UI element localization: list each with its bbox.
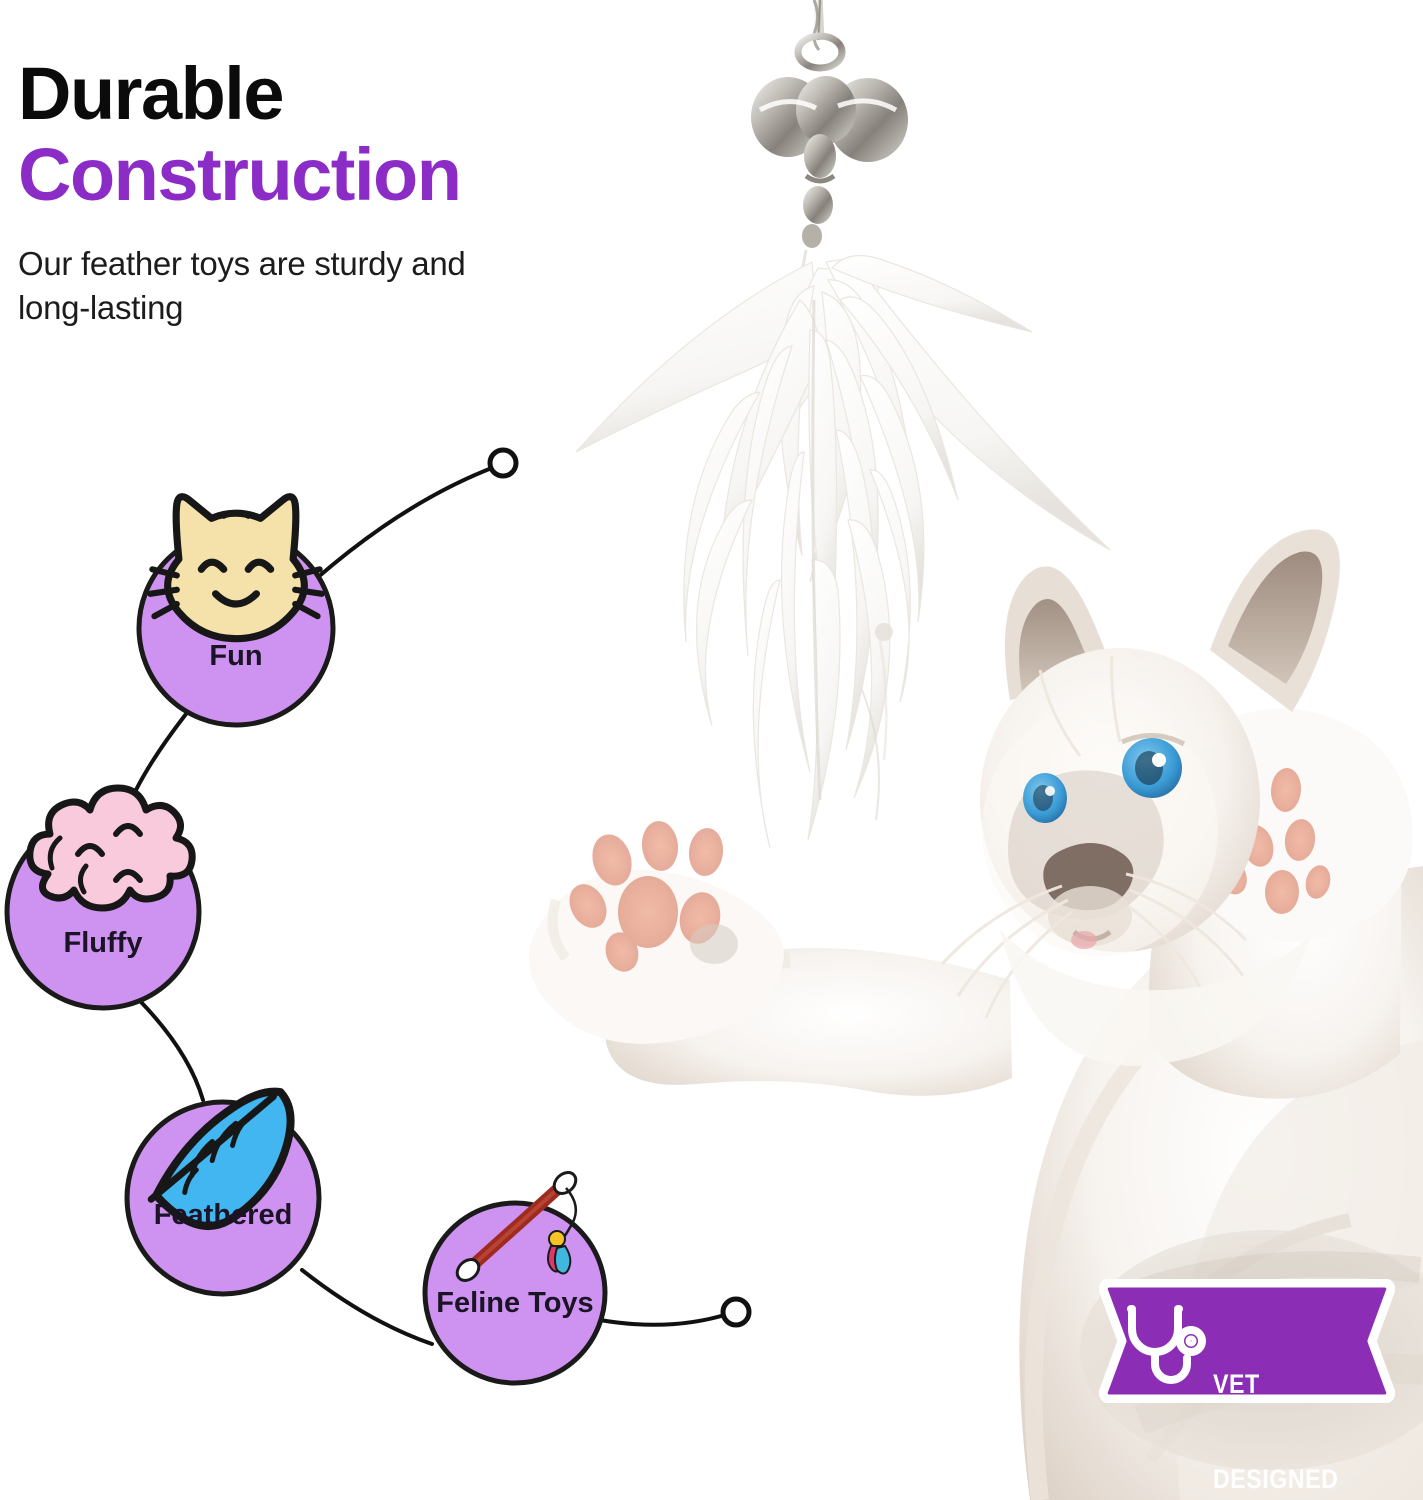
feature-bubble-diagram: Fun Fluffy [0,0,1423,1500]
badge-line-1: VET [1213,1369,1338,1401]
bottom-endpoint-ring [723,1299,749,1325]
connector-fluffy-feathered [141,1002,203,1100]
connector-feathered-feline [302,1270,432,1344]
top-endpoint-ring [490,450,516,476]
connector-endpoints [490,450,749,1325]
product-feature-image: Durable Construction Our feather toys ar… [0,0,1423,1500]
bubble-feathered[interactable]: Feathered [127,1087,319,1294]
badge-text: VET DESIGNED [1213,1305,1338,1500]
bubble-feline-toys-label: Feline Toys [436,1287,593,1319]
bubble-feline-toys[interactable]: Feline Toys [425,1168,605,1383]
cloud-puff-icon [30,788,192,908]
connector-top [317,466,497,578]
badge-line-2: DESIGNED [1213,1464,1338,1496]
connector-bottom [600,1314,728,1325]
vet-designed-badge: VET DESIGNED [1099,1279,1395,1403]
bubble-fluffy-label: Fluffy [64,927,143,959]
bubble-fluffy[interactable]: Fluffy [7,788,199,1008]
bubble-fun-label: Fun [209,640,262,672]
bubble-feathered-label: Feathered [154,1199,293,1231]
bubble-fun[interactable]: Fun [139,497,333,725]
